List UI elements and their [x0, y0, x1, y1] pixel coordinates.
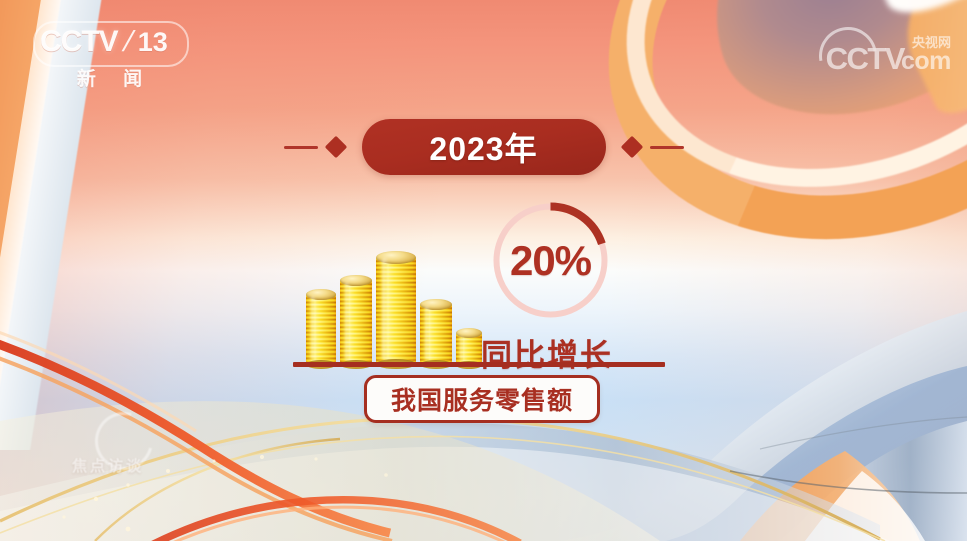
coin-stack-5 — [456, 328, 482, 366]
broadcast-graphic-frame: 焦点访谈 CCTV / 13 新 闻 CCTV 央视网 com 2023年 — [0, 0, 967, 541]
logo-cctv-text: CCTV — [40, 27, 118, 57]
cctv-com-watermark: CCTV 央视网 com — [826, 36, 951, 73]
chart-baseline — [293, 362, 665, 367]
year-label: 2023年 — [429, 124, 537, 170]
year-banner: 2023年 — [0, 119, 967, 175]
banner-diamond-left-icon — [324, 136, 347, 159]
growth-label: 同比增长 — [481, 330, 613, 375]
cctv13-logo: CCTV / 13 新 闻 — [40, 27, 180, 91]
coin-stack-3 — [376, 250, 416, 366]
banner-dash-left-icon — [284, 146, 318, 149]
banner-diamond-right-icon — [620, 136, 643, 159]
coin-stack-chart — [306, 248, 481, 366]
coin-stack-4 — [420, 298, 452, 366]
coin-stack-1 — [306, 288, 336, 366]
subject-label-box: 我国服务零售额 — [364, 375, 600, 423]
logo-channel-number: 13 — [138, 29, 168, 56]
watermark-com-text: com — [901, 50, 951, 74]
banner-dash-right-icon — [650, 146, 684, 149]
percent-value: 20% — [488, 198, 613, 323]
program-watermark: 焦点访谈 — [72, 455, 144, 476]
percent-donut-chart: 20% — [488, 198, 613, 323]
subject-label: 我国服务零售额 — [391, 381, 573, 417]
coin-stack-2 — [340, 274, 372, 366]
logo-channel-name: 新 闻 — [40, 64, 180, 91]
year-pill: 2023年 — [362, 119, 606, 175]
logo-slash-icon: / — [120, 28, 136, 57]
